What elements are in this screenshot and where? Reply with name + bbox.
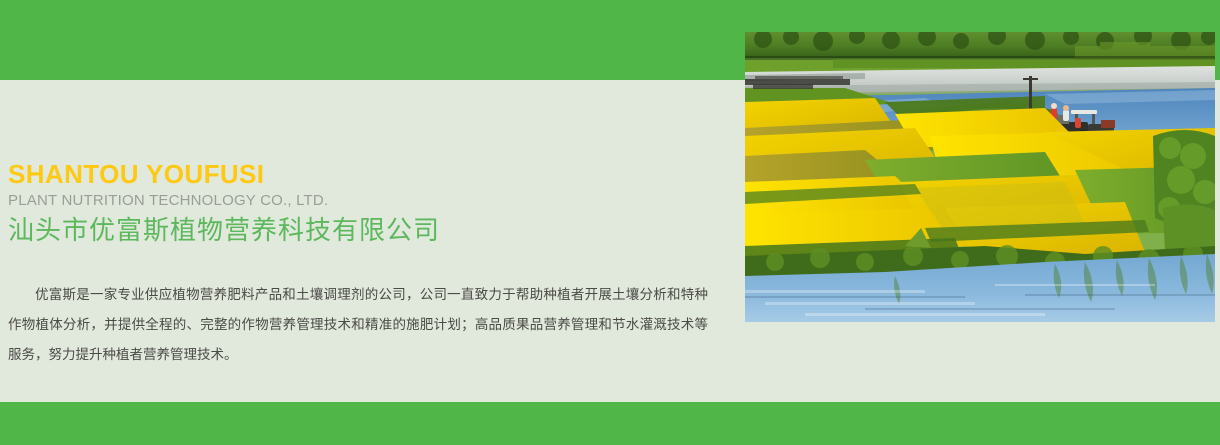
company-name-english: SHANTOU YOUFUSI xyxy=(8,160,720,190)
company-description-paragraph: 优富斯是一家专业供应植物营养肥料产品和土壤调理剂的公司，公司一直致力于帮助种植者… xyxy=(8,280,708,370)
company-profile-page: SHANTOU YOUFUSI PLANT NUTRITION TECHNOLO… xyxy=(0,0,1220,445)
farmland-photo xyxy=(745,32,1215,322)
company-name-chinese: 汕头市优富斯植物营养科技有限公司 xyxy=(8,214,720,248)
company-intro-block: SHANTOU YOUFUSI PLANT NUTRITION TECHNOLO… xyxy=(8,160,720,370)
rice-paddy-harvest-illustration xyxy=(745,32,1215,322)
bottom-green-band xyxy=(0,402,1220,445)
company-tagline-english: PLANT NUTRITION TECHNOLOGY CO., LTD. xyxy=(8,192,720,210)
